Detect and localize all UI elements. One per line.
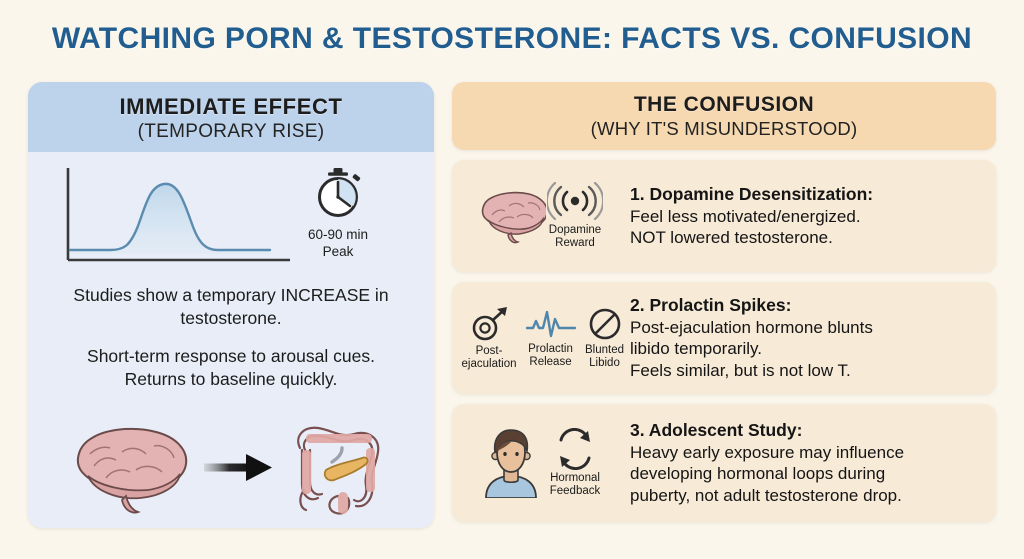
left-panel-body: Studies show a temporary INCREASE in tes… — [28, 284, 434, 391]
brain-to-gut-illustration — [28, 418, 434, 518]
stopwatch-icon — [309, 166, 367, 220]
card-1-icon-cell-brain — [483, 188, 539, 244]
male-symbol-icon — [467, 305, 511, 343]
card-1-title: 1. Dopamine Desensitization: — [630, 184, 982, 205]
card-1-icon-caption: Dopamine Reward — [547, 224, 603, 249]
card-2-icon-caption-1: Post-ejaculation — [462, 345, 517, 370]
stopwatch-peak-label: Peak — [290, 244, 386, 259]
card-3-icon-caption: Hormonal Feedback — [547, 472, 603, 497]
testosterone-chart-area: 60-90 min Peak — [28, 158, 434, 280]
card-2-icon-cell-blocked: Blunted Libido — [585, 306, 625, 369]
card-2-icon-cell-waveform: Prolactin Release — [525, 307, 577, 368]
card-2-line-1: Post-ejaculation hormone blunts — [630, 317, 982, 338]
arrow-right-icon — [202, 451, 276, 485]
confusion-panel: THE CONFUSION (WHY IT'S MISUNDERSTOOD) — [452, 82, 996, 530]
immediate-effect-panel: IMMEDIATE EFFECT (TEMPORARY RISE) — [28, 82, 434, 528]
confusion-card-dopamine[interactable]: Dopamine Reward 1. Dopamine Desensitizat… — [452, 160, 996, 272]
card-2-line-3: Feels similar, but is not low T. — [630, 360, 982, 381]
teen-avatar-icon — [480, 428, 542, 498]
infographic-page: WATCHING PORN & TESTOSTERONE: FACTS VS. … — [0, 0, 1024, 559]
card-3-line-2: developing hormonal loops during — [630, 463, 982, 484]
brain-icon — [66, 420, 198, 516]
card-3-line-1: Heavy early exposure may influence — [630, 442, 982, 463]
left-header-title: IMMEDIATE EFFECT — [119, 94, 342, 120]
card-3-icon-cell-avatar — [483, 428, 539, 498]
confusion-card-adolescent[interactable]: Hormonal Feedback 3. Adolescent Study: H… — [452, 404, 996, 522]
card-3-icons: Hormonal Feedback — [452, 428, 630, 498]
card-3-line-3: puberty, not adult testosterone drop. — [630, 485, 982, 506]
right-header-subtitle: (WHY IT'S MISUNDERSTOOD) — [591, 118, 858, 140]
card-1-icon-cell-signal: Dopamine Reward — [547, 182, 603, 249]
right-header-title: THE CONFUSION — [634, 93, 814, 117]
card-2-icon-cell-male: Post-ejaculation — [462, 305, 517, 370]
card-3-title: 3. Adolescent Study: — [630, 420, 982, 441]
card-1-icons: Dopamine Reward — [452, 182, 630, 249]
card-2-title: 2. Prolactin Spikes: — [630, 295, 982, 316]
circular-arrows-icon — [549, 428, 601, 470]
card-1-line-1: Feel less motivated/energized. — [630, 206, 982, 227]
card-1-line-2: NOT lowered testosterone. — [630, 227, 982, 248]
page-title: WATCHING PORN & TESTOSTERONE: FACTS VS. … — [0, 22, 1024, 56]
left-paragraph-1: Studies show a temporary INCREASE in tes… — [28, 284, 434, 330]
stopwatch-block: 60-90 min Peak — [290, 166, 386, 259]
brain-icon — [476, 188, 546, 244]
testosterone-peak-curve — [46, 164, 296, 274]
card-1-text: 1. Dopamine Desensitization: Feel less m… — [630, 184, 996, 249]
left-paragraph-2: Short-term response to arousal cues. Ret… — [28, 345, 434, 391]
card-3-text: 3. Adolescent Study: Heavy early exposur… — [630, 420, 996, 506]
stopwatch-duration: 60-90 min — [290, 227, 386, 242]
waveform-spike-icon — [525, 307, 577, 341]
card-3-icon-cell-feedback: Hormonal Feedback — [547, 428, 603, 497]
right-panel-header: THE CONFUSION (WHY IT'S MISUNDERSTOOD) — [452, 82, 996, 150]
card-2-icons: Post-ejaculation Prolactin Release Blunt… — [452, 305, 630, 370]
confusion-card-prolactin[interactable]: Post-ejaculation Prolactin Release Blunt… — [452, 282, 996, 394]
signal-waves-icon — [547, 182, 603, 222]
left-panel-header: IMMEDIATE EFFECT (TEMPORARY RISE) — [28, 82, 434, 152]
card-2-icon-caption-3: Blunted Libido — [585, 344, 625, 369]
left-header-subtitle: (TEMPORARY RISE) — [138, 121, 325, 143]
card-2-icon-caption-2: Prolactin Release — [525, 343, 577, 368]
card-2-text: 2. Prolactin Spikes: Post-ejaculation ho… — [630, 295, 996, 381]
intestines-pancreas-icon — [280, 418, 396, 518]
card-2-line-2: libido temporarily. — [630, 338, 982, 359]
prohibition-icon — [585, 306, 625, 342]
